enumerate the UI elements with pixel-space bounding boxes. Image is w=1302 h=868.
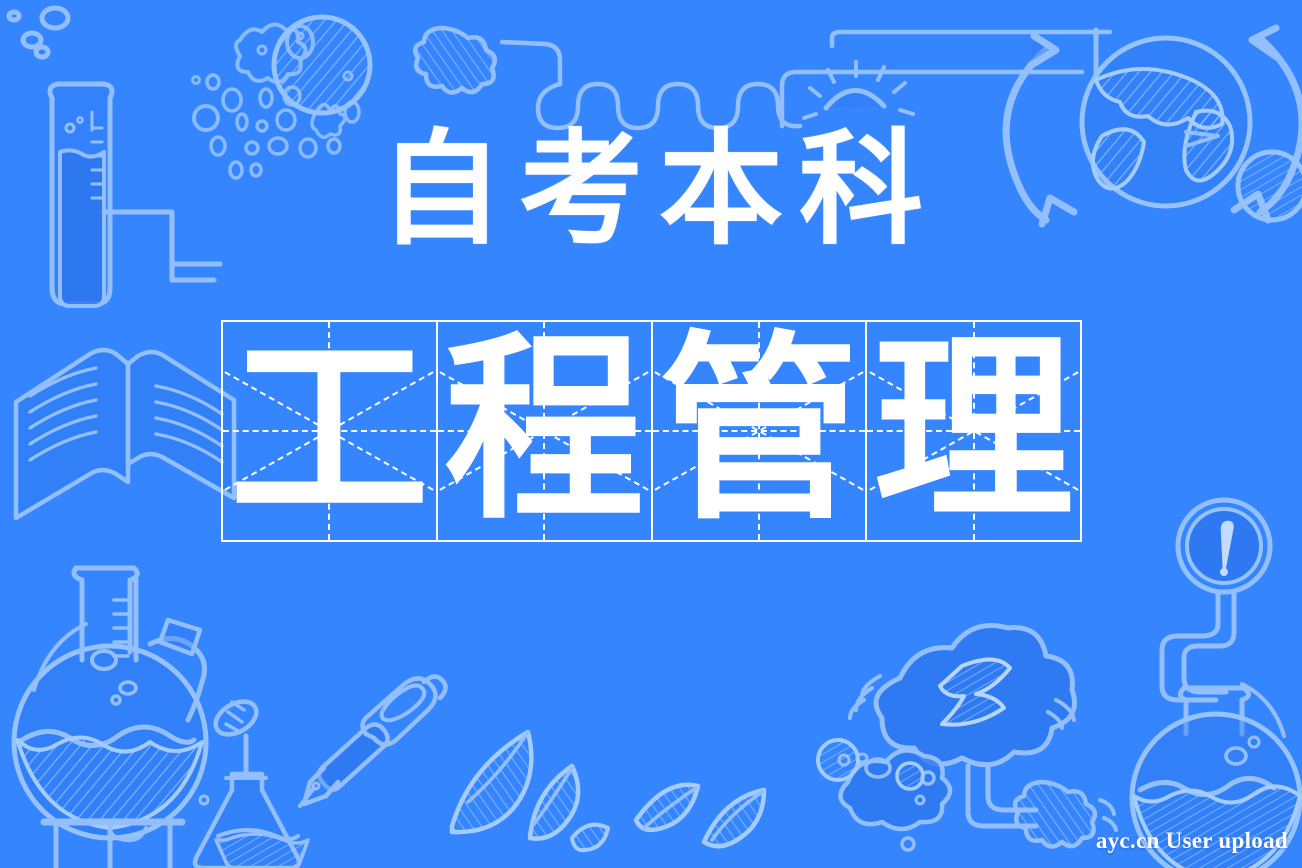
bubbles-icon xyxy=(9,8,68,57)
open-book-icon xyxy=(16,350,234,518)
cloud-lightning-icon xyxy=(818,626,1116,851)
grid-character: 管 xyxy=(653,322,866,540)
tianzige-cell: 理 xyxy=(867,322,1080,540)
grid-character: 工 xyxy=(223,322,436,540)
grid-character: 理 xyxy=(867,322,1080,540)
fountain-pen-icon xyxy=(300,676,446,806)
round-bottom-flask-icon xyxy=(14,568,262,868)
tianzige-cell: 管 xyxy=(653,322,868,540)
poster-canvas: 自考本科 工 程 管 理 xyxy=(0,0,1302,868)
grid-character: 程 xyxy=(438,322,651,540)
watermark: ayc.cn User upload xyxy=(1096,828,1288,854)
erlenmeyer-flask-icon xyxy=(195,774,308,868)
page-title: 自考本科 xyxy=(0,120,1302,260)
tianzige-cell: 程 xyxy=(438,322,653,540)
gauge-flask-icon xyxy=(1132,592,1300,868)
tianzige-cell: 工 xyxy=(223,322,438,540)
coiled-wire-circuit-icon xyxy=(415,28,1110,128)
hatched-sphere-icon xyxy=(274,17,370,113)
tianzige-grid: 工 程 管 理 xyxy=(221,320,1082,542)
sunrise-icon xyxy=(804,62,913,118)
leaves-icon xyxy=(452,732,764,850)
pressure-gauge-icon xyxy=(1178,500,1270,592)
